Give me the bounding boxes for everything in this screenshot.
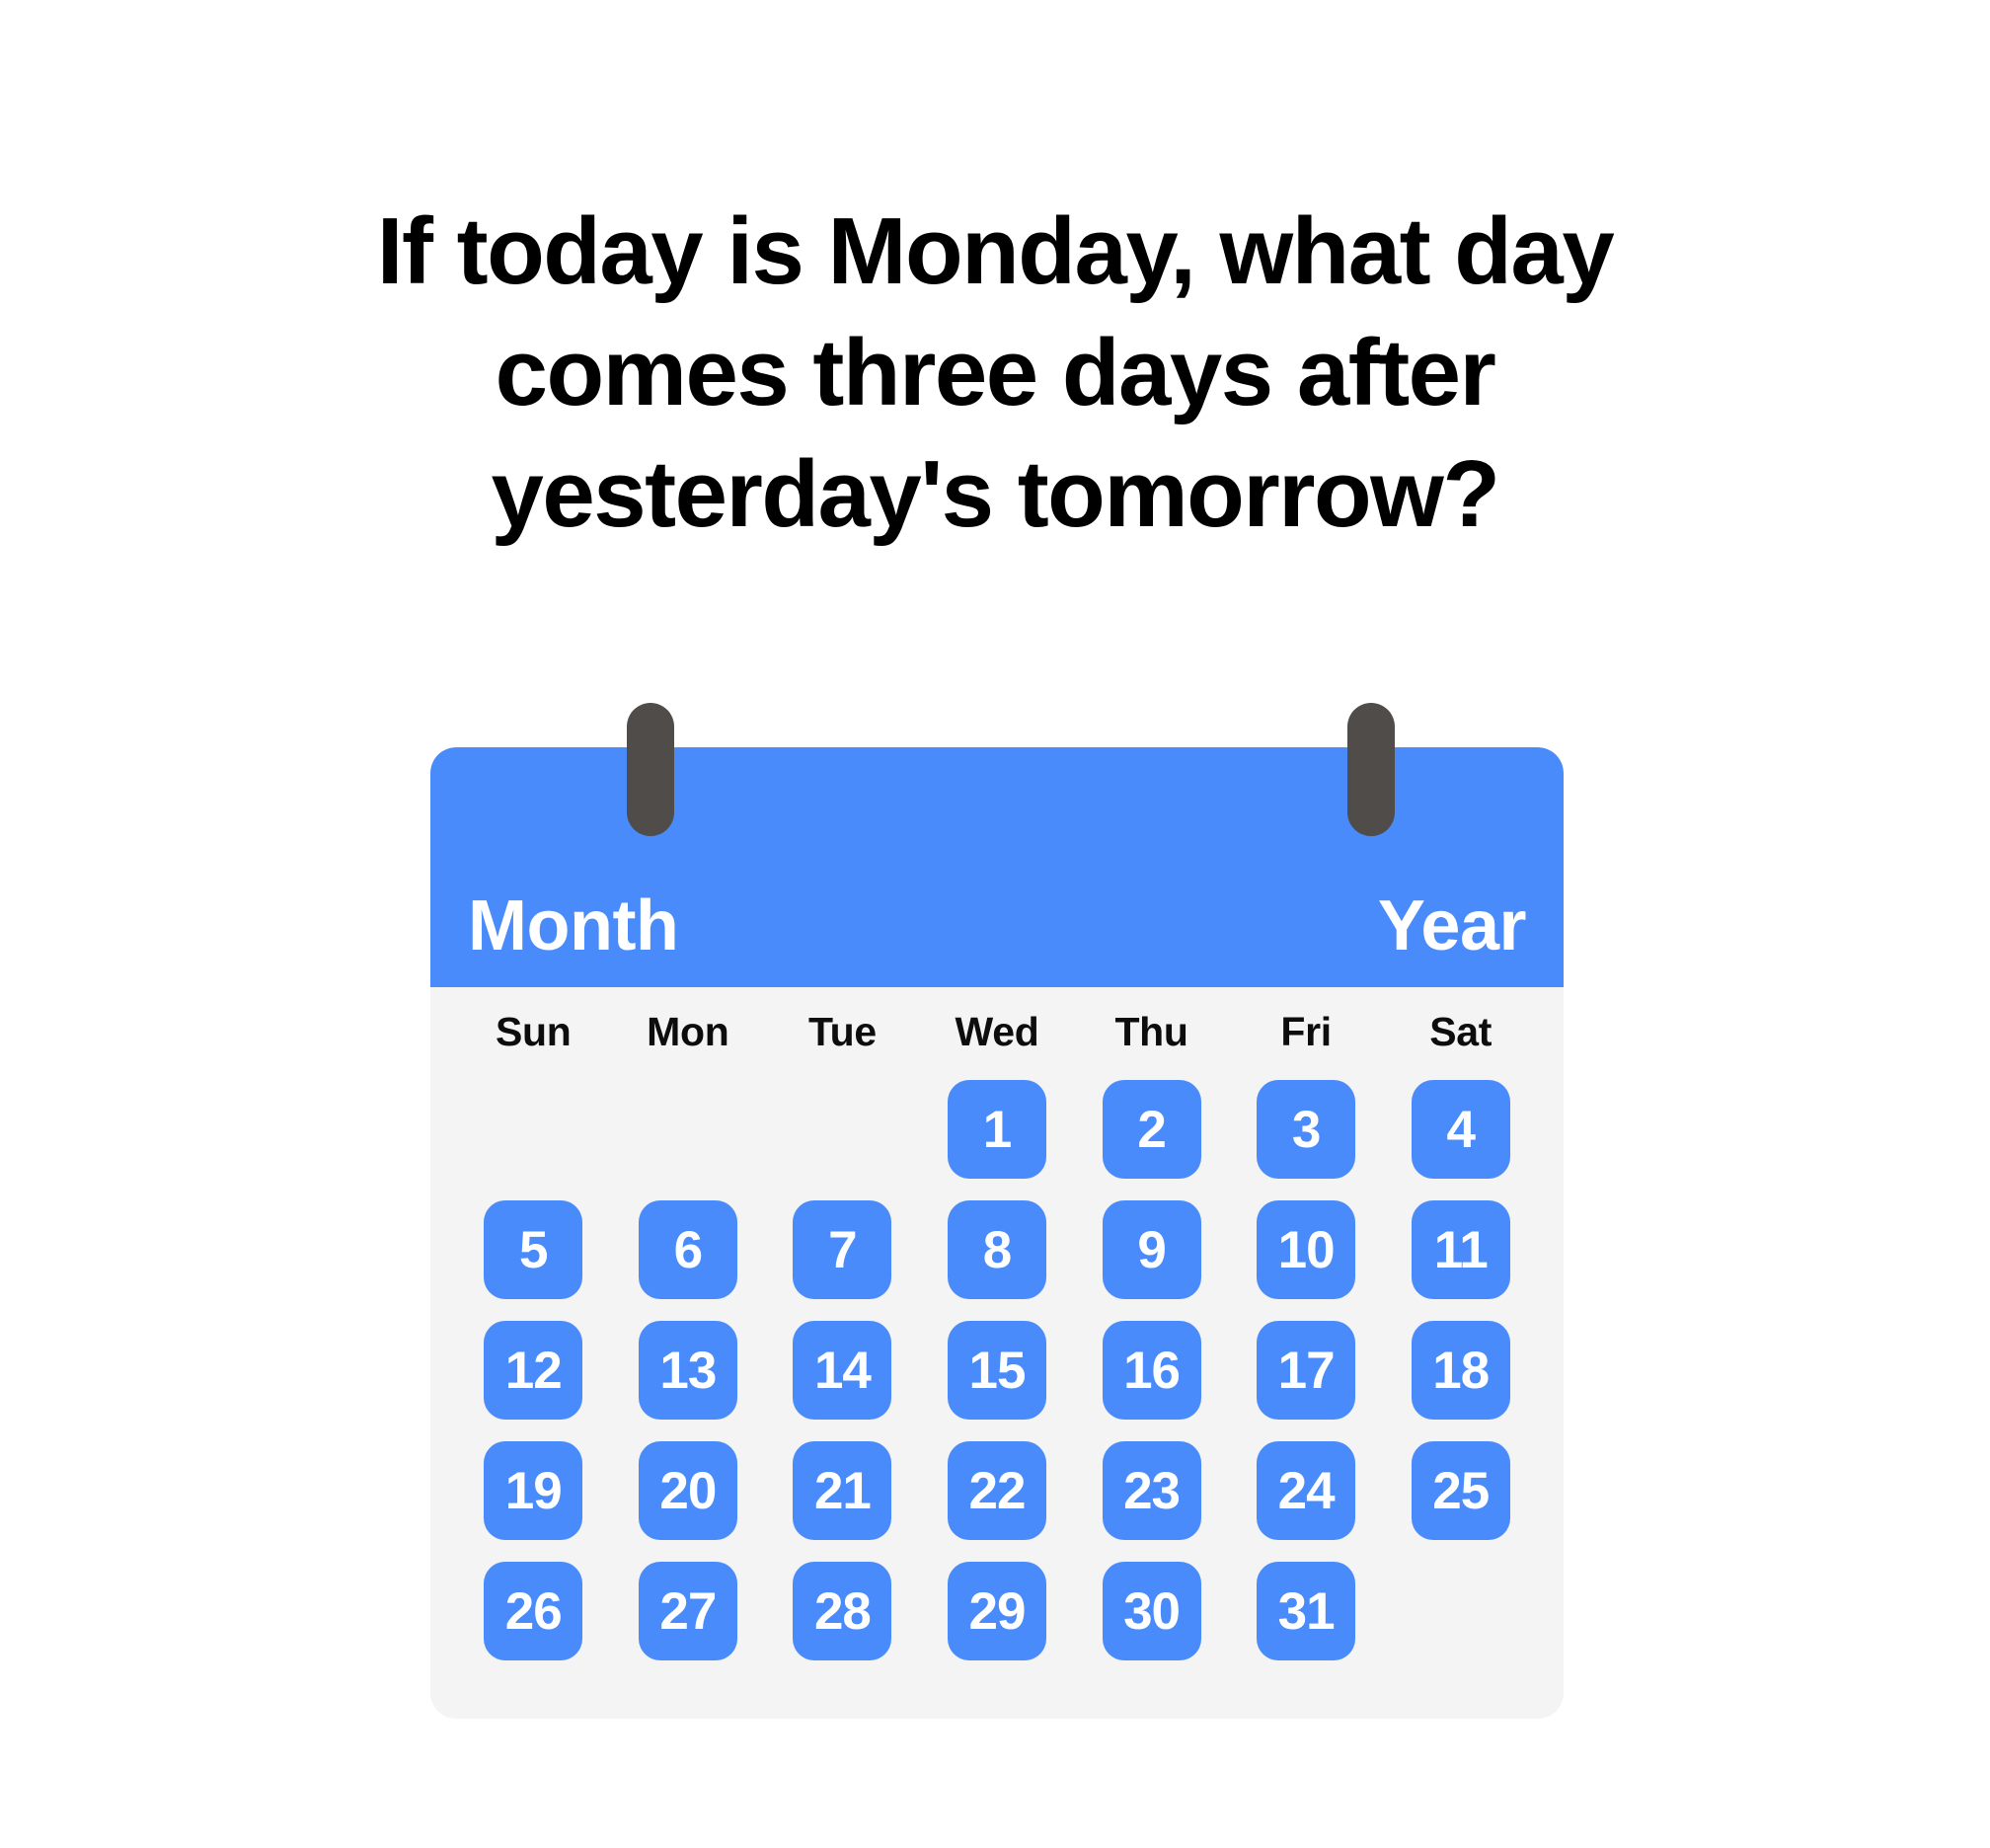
calendar-day-number: 17: [1257, 1321, 1355, 1420]
calendar-day-cell-empty: [793, 1080, 891, 1179]
question-title: If today is Monday, what day comes three…: [118, 192, 1872, 556]
calendar-day-cell[interactable]: 18: [1412, 1321, 1510, 1420]
calendar-day-cell[interactable]: 30: [1103, 1562, 1201, 1660]
calendar-day-cell[interactable]: 31: [1257, 1562, 1355, 1660]
calendar-day-number: 21: [793, 1441, 891, 1540]
calendar-day-cell[interactable]: 4: [1412, 1080, 1510, 1179]
calendar-binding-ring-left-icon: [627, 703, 674, 836]
calendar-day-number: 7: [793, 1200, 891, 1299]
calendar-day-cell[interactable]: 21: [793, 1441, 891, 1540]
calendar-year-label: Year: [1378, 890, 1526, 962]
calendar-day-cell[interactable]: 5: [484, 1200, 582, 1299]
weekday-header-sat: Sat: [1383, 1009, 1538, 1055]
weekday-header-wed: Wed: [920, 1009, 1075, 1055]
calendar-day-number: 19: [484, 1441, 582, 1540]
calendar-day-cell[interactable]: 12: [484, 1321, 582, 1420]
calendar-day-cell[interactable]: 27: [639, 1562, 737, 1660]
calendar-day-number: 22: [948, 1441, 1046, 1540]
calendar-day-number: 15: [948, 1321, 1046, 1420]
weekday-header-fri: Fri: [1229, 1009, 1384, 1055]
calendar-day-cell[interactable]: 16: [1103, 1321, 1201, 1420]
calendar-day-number: 3: [1257, 1080, 1355, 1179]
calendar-weekday-header-row: Sun Mon Tue Wed Thu Fri Sat: [430, 987, 1564, 1061]
calendar-day-number: 10: [1257, 1200, 1355, 1299]
calendar-day-cell[interactable]: 13: [639, 1321, 737, 1420]
question-title-line-2: comes three days after: [118, 313, 1872, 434]
calendar-day-number: 9: [1103, 1200, 1201, 1299]
calendar-day-cell[interactable]: 9: [1103, 1200, 1201, 1299]
calendar-day-number: 8: [948, 1200, 1046, 1299]
calendar-day-number: 1: [948, 1080, 1046, 1179]
calendar-day-number: 26: [484, 1562, 582, 1660]
calendar-day-cell[interactable]: 10: [1257, 1200, 1355, 1299]
calendar-day-number: 6: [639, 1200, 737, 1299]
calendar-day-cell-empty: [639, 1080, 737, 1179]
weekday-header-sun: Sun: [456, 1009, 611, 1055]
calendar-day-cell[interactable]: 6: [639, 1200, 737, 1299]
calendar-days-grid: 1234567891011121314151617181920212223242…: [430, 1061, 1564, 1671]
calendar-day-cell[interactable]: 1: [948, 1080, 1046, 1179]
calendar-day-cell[interactable]: 22: [948, 1441, 1046, 1540]
calendar-day-number: 14: [793, 1321, 891, 1420]
calendar-day-number: 12: [484, 1321, 582, 1420]
calendar-day-number: 23: [1103, 1441, 1201, 1540]
calendar-day-cell[interactable]: 24: [1257, 1441, 1355, 1540]
calendar-day-cell-empty: [484, 1080, 582, 1179]
calendar-day-cell[interactable]: 17: [1257, 1321, 1355, 1420]
calendar-day-number: 4: [1412, 1080, 1510, 1179]
calendar-day-number: 2: [1103, 1080, 1201, 1179]
calendar-day-number: 5: [484, 1200, 582, 1299]
weekday-header-tue: Tue: [765, 1009, 920, 1055]
question-title-line-3: yesterday's tomorrow?: [118, 434, 1872, 556]
calendar-day-cell[interactable]: 7: [793, 1200, 891, 1299]
calendar-day-number: 29: [948, 1562, 1046, 1660]
calendar-day-cell[interactable]: 19: [484, 1441, 582, 1540]
calendar-day-cell[interactable]: 3: [1257, 1080, 1355, 1179]
calendar-day-number: 16: [1103, 1321, 1201, 1420]
calendar-day-number: 28: [793, 1562, 891, 1660]
calendar-day-cell[interactable]: 2: [1103, 1080, 1201, 1179]
calendar-day-cell[interactable]: 23: [1103, 1441, 1201, 1540]
calendar-day-cell[interactable]: 8: [948, 1200, 1046, 1299]
calendar-month-label: Month: [468, 890, 678, 962]
calendar-day-cell-empty: [1412, 1562, 1510, 1660]
calendar-day-cell[interactable]: 26: [484, 1562, 582, 1660]
calendar-day-cell[interactable]: 25: [1412, 1441, 1510, 1540]
calendar-day-number: 30: [1103, 1562, 1201, 1660]
calendar-day-number: 18: [1412, 1321, 1510, 1420]
calendar-day-number: 13: [639, 1321, 737, 1420]
calendar-day-number: 11: [1412, 1200, 1510, 1299]
calendar-day-cell[interactable]: 29: [948, 1562, 1046, 1660]
calendar-day-cell[interactable]: 11: [1412, 1200, 1510, 1299]
calendar-day-number: 31: [1257, 1562, 1355, 1660]
calendar-day-number: 25: [1412, 1441, 1510, 1540]
question-card-page: If today is Monday, what day comes three…: [0, 0, 1990, 1848]
calendar-day-cell[interactable]: 28: [793, 1562, 891, 1660]
calendar-binding-ring-right-icon: [1347, 703, 1395, 836]
calendar-day-number: 20: [639, 1441, 737, 1540]
weekday-header-mon: Mon: [611, 1009, 766, 1055]
calendar-day-cell[interactable]: 14: [793, 1321, 891, 1420]
weekday-header-thu: Thu: [1074, 1009, 1229, 1055]
calendar-day-cell[interactable]: 15: [948, 1321, 1046, 1420]
calendar-day-number: 27: [639, 1562, 737, 1660]
calendar-day-cell[interactable]: 20: [639, 1441, 737, 1540]
calendar-day-number: 24: [1257, 1441, 1355, 1540]
calendar-card: Month Year Sun Mon Tue Wed Thu Fri Sat 1…: [430, 747, 1564, 1719]
question-title-line-1: If today is Monday, what day: [118, 192, 1872, 313]
